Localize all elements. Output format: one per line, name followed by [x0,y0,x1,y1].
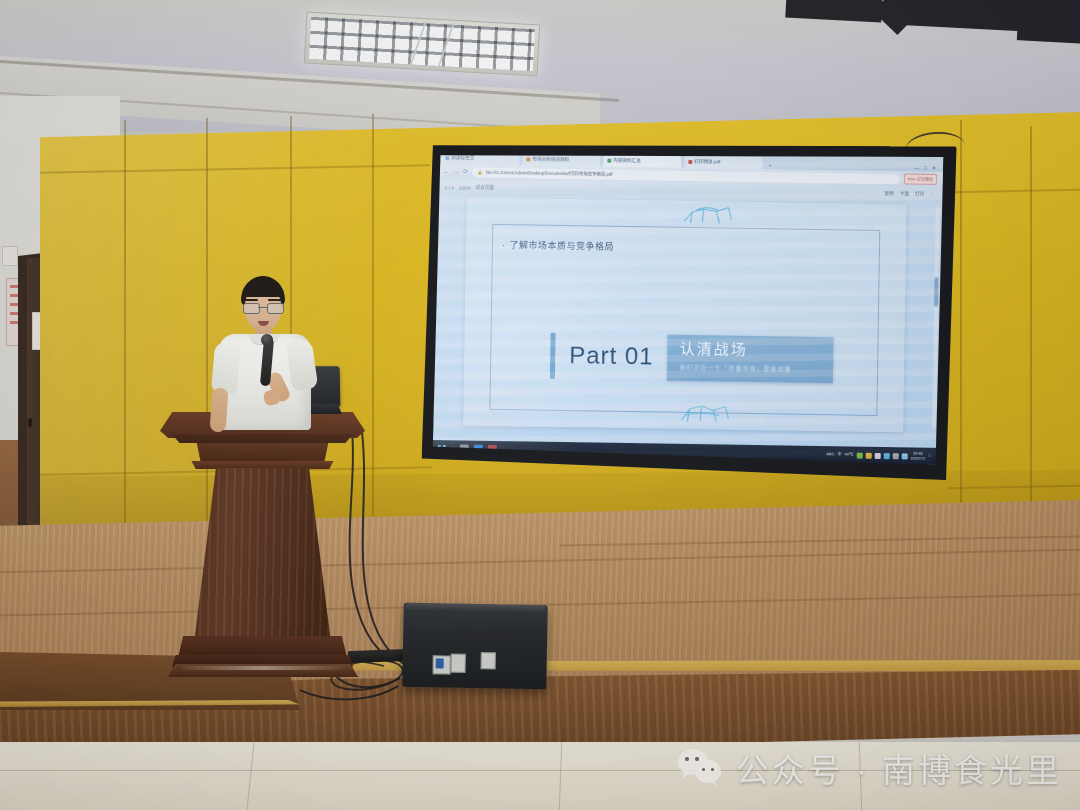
glasses-icon [243,303,283,312]
microphone-head-icon [261,334,273,346]
glasses-bridge [258,307,267,308]
podium-body [194,468,331,643]
podium-wood-grain [194,468,331,643]
podium-base-highlight [182,666,342,670]
presenter [205,276,335,446]
av-equipment-case [402,603,547,690]
glasses-lens [243,303,260,314]
presenter-arm [209,387,228,432]
podium-plinth [178,636,347,658]
wechat-eye [695,757,699,761]
watermark-text: 公众号 · 南博食光里 [736,744,1062,792]
wechat-bubble-small [695,760,721,783]
podium-collar-lower [190,461,335,469]
podium-collar [194,443,331,463]
av-case-lid [406,603,546,613]
watermark: 公众号 · 南博食光里 [678,744,1062,792]
presenter-eyebrow [245,299,258,301]
presenter-sleeve [211,341,241,395]
glasses-lens [267,303,284,314]
photo-scene: 新建标签页 市场分析培训资料 内部资料汇总 打印预览.pdf + — □ [0,0,1080,810]
av-port-indicator [436,658,444,668]
presenter-hair-fringe [242,282,284,297]
wechat-eye [685,757,689,761]
presenter-eyebrow [268,299,281,301]
presenter-sleeve [286,338,319,391]
av-panel-port [451,654,466,673]
wechat-icon [678,749,724,787]
av-panel-port [481,652,496,669]
